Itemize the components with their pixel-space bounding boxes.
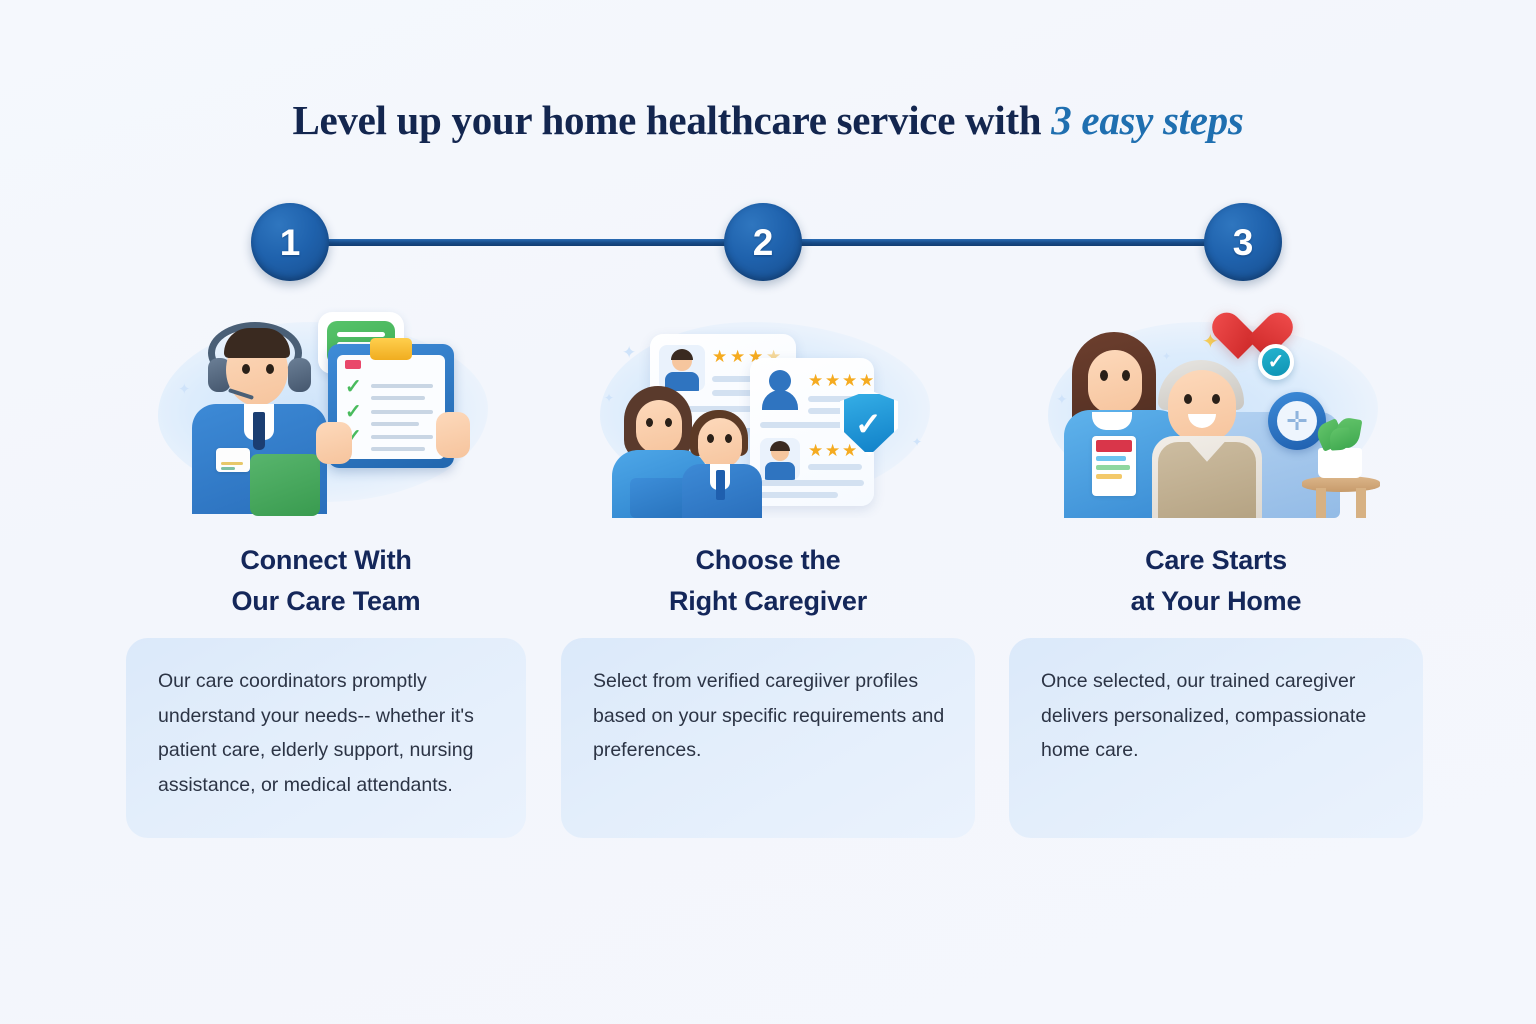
side-table-leg: [1356, 488, 1366, 518]
star-icon: ★: [808, 442, 823, 459]
medication-stripe: [1096, 456, 1126, 461]
step-description-card-3: Once selected, our trained caregiver del…: [1009, 638, 1423, 838]
step-number-badge-1[interactable]: 1: [251, 203, 329, 281]
badge-stripe: [221, 467, 235, 470]
clipboard-line: [371, 422, 419, 426]
medication-stripe: [1096, 465, 1130, 470]
star-icon: ★: [825, 442, 840, 459]
medication-card: [1092, 436, 1136, 496]
sparkle-icon: ✦: [178, 382, 191, 397]
avatar-hair: [671, 349, 693, 360]
checkmark-icon: ✓: [345, 402, 362, 422]
star-icon: ★: [712, 348, 727, 365]
caregiver-with-elderly-patient-illustration: ✦ ✦ ✦: [1030, 300, 1402, 518]
step-description-text-1: Our care coordinators promptly understan…: [158, 670, 474, 796]
side-table: [1302, 476, 1380, 492]
star-icon: ★: [859, 372, 874, 389]
step-heading-2: Choose the Right Caregiver: [558, 540, 978, 622]
verified-check-badge-icon: ✓: [1258, 344, 1294, 380]
step-heading-line-2: at Your Home: [1131, 586, 1302, 616]
page-title-accent: 3 easy steps: [1051, 97, 1243, 143]
checkmark-icon: ✓: [345, 377, 362, 397]
profile-line: [760, 492, 838, 498]
avatar: [760, 438, 800, 480]
page-title: Level up your home healthcare service wi…: [0, 96, 1536, 144]
agent-necktie: [253, 412, 265, 450]
sparkle-icon: ✦: [1056, 392, 1068, 406]
infographic-canvas: Level up your home healthcare service wi…: [0, 0, 1536, 1024]
step-description-card-2: Select from verified caregiiver profiles…: [561, 638, 975, 838]
headset-ear-cup: [288, 358, 311, 392]
sparkle-icon: ✦: [622, 344, 636, 361]
green-folder: [250, 454, 320, 516]
sparkle-icon: ✦: [604, 392, 614, 404]
step-column-2: ✦ ✦ ✦ ★ ★ ★ ★: [558, 300, 978, 838]
star-icon: ★: [825, 372, 840, 389]
badge-stripe: [221, 462, 243, 465]
medication-stripe: [1096, 474, 1122, 479]
avatar: [760, 368, 800, 412]
nurse-eye: [665, 418, 672, 427]
step-description-card-1: Our care coordinators promptly understan…: [126, 638, 526, 838]
step-number-badge-2[interactable]: 2: [724, 203, 802, 281]
medical-cross-inner: ✛: [1277, 401, 1317, 441]
track-connector-2-3: [763, 239, 1243, 246]
star-icon: ★: [842, 442, 857, 459]
clipboard-line: [371, 447, 425, 451]
nurse-eye: [1100, 370, 1108, 381]
id-badge-icon: [216, 448, 250, 472]
avatar-body: [765, 462, 795, 480]
male-eye: [725, 434, 732, 443]
clipboard-line: [371, 435, 433, 439]
nurse-face: [1088, 350, 1142, 414]
support-agent-with-checklist-illustration: ✦ ✦ ✦: [140, 300, 512, 518]
nurse-eye: [646, 418, 653, 427]
elderly-eye: [1212, 394, 1220, 404]
sparkle-icon: ✦: [912, 436, 922, 448]
sparkle-icon: ✦: [1162, 352, 1171, 363]
step-heading-line-1: Choose the: [695, 545, 840, 575]
page-title-prefix: Level up your home healthcare service wi…: [292, 97, 1051, 143]
medication-stripe: [1096, 440, 1132, 452]
nurse-collar: [1092, 412, 1132, 430]
step-heading-line-1: Connect With: [240, 545, 411, 575]
step-heading-line-1: Care Starts: [1145, 545, 1287, 575]
checkmark-icon: ✓: [855, 408, 882, 440]
medical-cross-icon: ✛: [1268, 392, 1326, 450]
caregiver-profiles-with-ratings-illustration: ✦ ✦ ✦ ★ ★ ★ ★: [582, 300, 954, 518]
star-icon: ★: [730, 348, 745, 365]
track-connector-1-2: [290, 239, 763, 246]
step-number-badge-3[interactable]: 3: [1204, 203, 1282, 281]
step-column-1: ✦ ✦ ✦: [116, 300, 536, 838]
male-eye: [707, 434, 714, 443]
agent-eye: [266, 364, 274, 374]
clipboard-line: [371, 396, 425, 400]
agent-hand: [316, 422, 352, 464]
agent-eye: [242, 364, 250, 374]
side-table-leg: [1316, 488, 1326, 518]
profile-line: [808, 464, 862, 470]
avatar: [659, 345, 705, 391]
male-face: [698, 418, 742, 468]
plant-pot: [1318, 448, 1362, 478]
step-progress-track: 1 2 3: [0, 203, 1536, 283]
step-heading-line-2: Our Care Team: [232, 586, 421, 616]
clipboard-paper: ✓ ✓ ✓: [337, 355, 445, 459]
elderly-face: [1168, 370, 1236, 442]
nurse-eye: [1122, 370, 1130, 381]
step-heading-3: Care Starts at Your Home: [1006, 540, 1426, 622]
clipboard-line: [371, 384, 433, 388]
step-description-text-2: Select from verified caregiiver profiles…: [593, 670, 944, 761]
star-icon: ★: [808, 372, 823, 389]
chat-line: [337, 332, 385, 337]
step-heading-1: Connect With Our Care Team: [116, 540, 536, 622]
profile-line: [760, 480, 864, 486]
step-column-3: ✦ ✦ ✦: [1006, 300, 1426, 838]
step-heading-line-2: Right Caregiver: [669, 586, 867, 616]
male-necktie: [716, 470, 725, 500]
avatar-hair: [770, 441, 790, 451]
avatar-head: [769, 370, 791, 392]
star-icon: ★: [842, 372, 857, 389]
step-description-text-3: Once selected, our trained caregiver del…: [1041, 670, 1366, 761]
agent-hand: [436, 412, 470, 458]
avatar-body: [762, 390, 798, 410]
nurse-face: [636, 400, 682, 454]
clipboard-tag: [345, 360, 361, 369]
elderly-eye: [1184, 394, 1192, 404]
clipboard-clamp: [370, 338, 412, 360]
clipboard-line: [371, 410, 433, 414]
agent-hair: [224, 328, 290, 358]
